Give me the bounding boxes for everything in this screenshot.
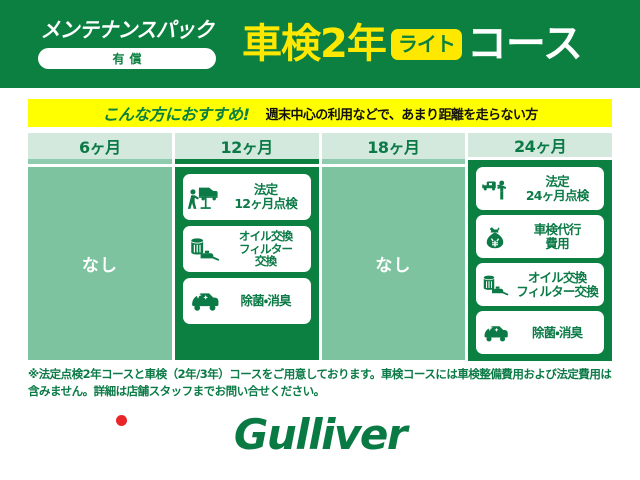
oil-filter-can-icon [480,271,510,299]
pack-title: メンテナンスパック [40,19,213,41]
plan-column-header: 12ヶ月 [175,133,319,159]
plan-item-card: 除菌・消臭 [183,278,311,324]
plan-item-label: 除菌・消臭 [225,294,307,308]
plan-column-accent-bar [322,159,466,164]
car-on-lift-icon [187,182,221,212]
plan-column-accent-bar [175,159,319,164]
plan-item-label: 除菌・消臭 [514,326,600,340]
plan-column-6ヶ月: 6ヶ月なし [28,133,172,360]
course-light-badge: ライト [391,29,462,60]
plan-column-header: 24ヶ月 [468,133,612,157]
car-inspector-icon [480,175,510,203]
brand-logo-text: Gulliver [234,414,406,456]
pack-paid-badge: 有償 [38,48,216,69]
brand-logo: Gulliver [0,414,640,456]
maintenance-pack-banner: メンテナンスパック 有償 車検2年 ライト コース こんな方におすすめ! 週末中… [0,0,640,480]
plan-item-card: 除菌・消臭 [476,311,604,354]
plan-item-label: オイル交換フィルター交換 [514,271,600,299]
brand-logo-dot [116,415,127,426]
plan-item-label: オイル交換フィルター交換 [225,230,307,269]
course-title-block: 車検2年 ライト コース [242,24,640,64]
plan-column-12ヶ月: 12ヶ月 法定12ヶ月点検 オイル交換フィルター交換 [175,133,319,360]
course-suffix: コース [467,24,582,64]
plan-column-18ヶ月: 18ヶ月なし [322,133,466,360]
plan-item-card: 法定24ヶ月点検 [476,167,604,210]
plan-column-body: 法定12ヶ月点検 オイル交換フィルター交換 除菌・消臭 [175,167,319,360]
sparkle-car-icon [480,319,510,347]
plan-item-label: 法定24ヶ月点検 [514,175,600,203]
plan-column-header: 18ヶ月 [322,133,466,159]
plan-item-card: 車検代行費用 [476,215,604,258]
plan-column-header: 6ヶ月 [28,133,172,159]
footnote-text: ※法定点検2年コースと車検（2年/3年）コースをご用意しております。車検コースに… [28,366,614,399]
sparkle-car-icon [187,286,221,316]
plan-item-card: オイル交換フィルター交換 [183,226,311,272]
plan-column-body: なし [322,167,466,360]
plan-column-body: なし [28,167,172,360]
plan-none-label: なし [82,251,118,276]
course-shaken-2year: 車検2年 [242,24,386,64]
recommendation-body: 週末中心の利用などで、あまり距離を走らない方 [266,104,538,123]
plan-item-card: オイル交換フィルター交換 [476,263,604,306]
oil-filter-can-icon [187,234,221,264]
plan-column-body: 法定24ヶ月点検 車検代行費用 オイル交換フィルタ [468,160,612,361]
recommendation-lead: こんな方におすすめ! [102,101,249,125]
plan-column-accent-bar [28,159,172,164]
plan-column-24ヶ月: 24ヶ月 法定24ヶ月点検 車検代行費用 [468,133,612,360]
plan-item-label: 法定12ヶ月点検 [225,183,307,211]
plan-item-label: 車検代行費用 [514,223,600,251]
money-bag-yen-icon [480,223,510,251]
plan-none-label: なし [375,251,411,276]
header-band: メンテナンスパック 有償 車検2年 ライト コース [0,0,640,88]
plan-table: 6ヶ月なし12ヶ月 法定12ヶ月点検 オイル交換フィルター交換 [28,133,612,360]
recommendation-banner: こんな方におすすめ! 週末中心の利用などで、あまり距離を走らない方 [28,99,612,127]
plan-item-card: 法定12ヶ月点検 [183,174,311,220]
maintenance-pack-block: メンテナンスパック 有償 [16,19,238,68]
